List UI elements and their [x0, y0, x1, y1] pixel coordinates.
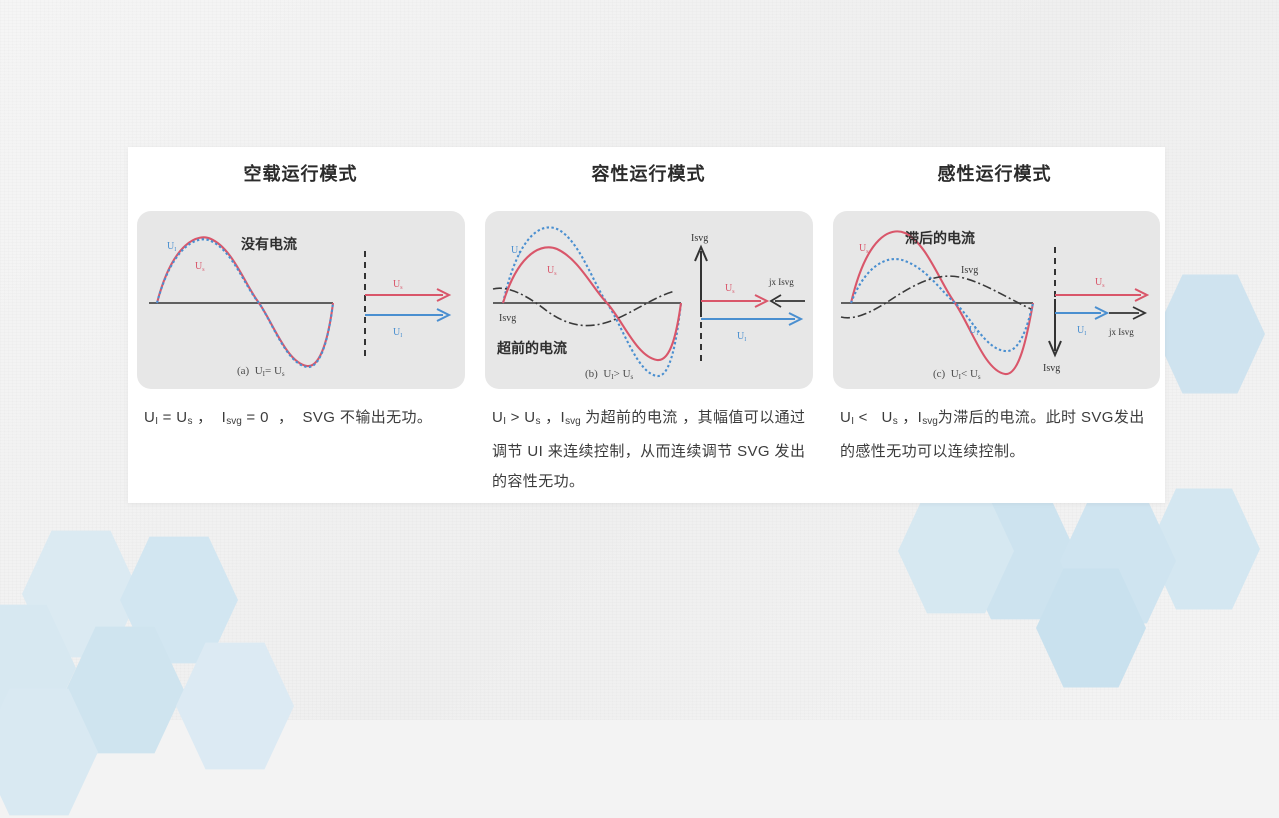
hexagon-shape [962, 492, 1078, 622]
figure-subcaption: (a) UI= Us [237, 365, 285, 378]
caption-line-1: 为超前的电流 ，其幅值可 [585, 409, 759, 426]
figure-subcaption: (b) UI> Us [585, 368, 634, 381]
hexagon-shape [898, 486, 1014, 616]
hexagon-shape [1060, 496, 1176, 626]
column-title: 感性运行模式 [824, 160, 1165, 186]
hexagon-shape [1036, 566, 1146, 690]
wave-label-u1: UI [511, 245, 520, 257]
hexagon-shape [0, 602, 76, 734]
wave-label-us: Us [547, 265, 557, 277]
figure-heading: 超前的电流 [496, 340, 567, 356]
phasor-label-us: Us [1095, 277, 1105, 289]
wave-label-isvg: Isvg [499, 313, 516, 324]
column-title: 容性运行模式 [476, 160, 821, 186]
caption-line-1: 为滞后的电流。此时 SVG [938, 409, 1114, 426]
figure-panel-capacitive: UI Us Isvg 超前的电流 Isvg jx Isvg Us [485, 211, 813, 389]
waveform-phasor-diagram-b: UI Us Isvg 超前的电流 Isvg jx Isvg Us [485, 211, 813, 389]
hexagon-shape [120, 534, 238, 666]
phasor-label-jx-isvg: jx Isvg [768, 277, 794, 287]
phasor-label-us: Us [393, 279, 403, 291]
caption-capacitive: UI > Us ，Isvg 为超前的电流 ，其幅值可以通过调节 UI 来连续控制… [492, 403, 809, 497]
column-inductive: 感性运行模式 Us Isvg UI 滞后的电流 Isvg [824, 147, 1165, 503]
waveform-phasor-diagram-a: UI Us Us UI 没有电流 (a) UI= Us [137, 211, 465, 389]
figure-subcaption: (c) UI< Us [933, 368, 981, 381]
phasor-label-jx-isvg: jx Isvg [1108, 327, 1134, 337]
hexagon-shape [0, 686, 98, 818]
caption-no-load: UI = Us ， Isvg = 0 ， SVG 不输出无功。 [144, 403, 461, 437]
content-card: 空载运行模式 UI Us Us UI [128, 147, 1165, 503]
wave-label-u1: UI [167, 241, 176, 253]
phasor-label-u1: UI [1077, 325, 1086, 337]
hexagon-shape [66, 624, 184, 756]
phasor-axis-label-isvg: Isvg [1043, 363, 1060, 374]
phasor-label-us: Us [725, 283, 735, 295]
column-title: 空载运行模式 [128, 160, 473, 186]
phasor-axis-label-isvg: Isvg [691, 233, 708, 244]
waveform-phasor-diagram-c: Us Isvg UI 滞后的电流 Isvg Us UI [833, 211, 1160, 389]
figure-heading: 没有电流 [241, 236, 297, 252]
hexagon-shape [22, 528, 140, 660]
phasor-label-u1: UI [737, 331, 746, 343]
column-no-load: 空载运行模式 UI Us Us UI [128, 147, 473, 503]
hexagon-shape [1155, 272, 1265, 396]
hexagon-shape [176, 640, 294, 772]
hexagon-shape [1148, 486, 1260, 612]
column-capacitive: 容性运行模式 UI Us Isvg 超前的电流 Isvg [476, 147, 821, 503]
figure-panel-inductive: Us Isvg UI 滞后的电流 Isvg Us UI [833, 211, 1160, 389]
phasor-label-u1: UI [393, 327, 402, 339]
figure-panel-no-load: UI Us Us UI 没有电流 (a) UI= Us [137, 211, 465, 389]
wave-label-us: Us [195, 261, 205, 273]
wave-label-isvg: Isvg [961, 265, 978, 276]
caption-inductive: UI < Us ，Isvg为滞后的电流。此时 SVG发出的感性无功可以连续控制。 [840, 403, 1154, 467]
wave-label-u1: UI [969, 325, 978, 337]
figure-heading: 滞后的电流 [905, 230, 975, 246]
wave-label-us: Us [859, 243, 869, 255]
